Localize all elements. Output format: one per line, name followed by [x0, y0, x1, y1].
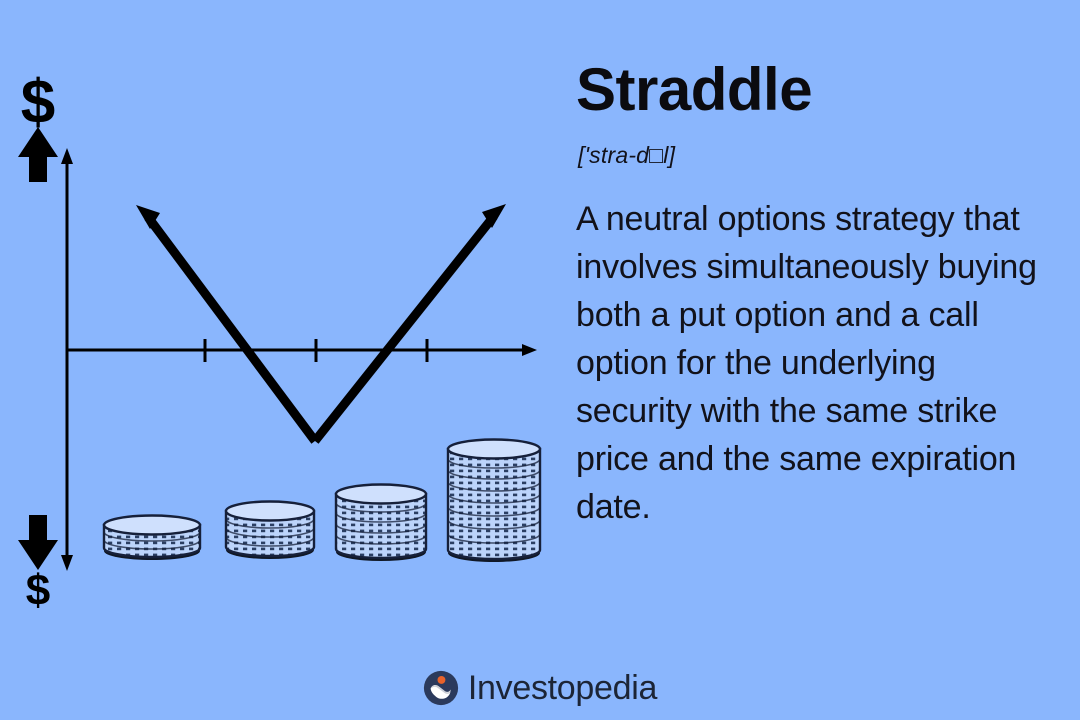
axis-top-dollar-group: $ — [18, 68, 58, 182]
straddle-illustration: $ $ — [0, 0, 560, 660]
coin-stack-1 — [104, 516, 200, 561]
axis-bottom-dollar-group: $ — [18, 515, 58, 615]
y-axis-up-arrowhead — [61, 148, 73, 164]
x-axis — [67, 339, 537, 362]
definition-card: $ $ — [0, 0, 1080, 720]
payoff-chart: $ $ — [0, 0, 560, 660]
investopedia-logo-icon — [423, 670, 459, 706]
axis-top-dollar-label: $ — [21, 68, 55, 137]
definition-body-text: A neutral options strategy that involves… — [576, 195, 1046, 531]
coin-stack-2 — [226, 502, 314, 560]
coin-stack-4 — [448, 440, 540, 563]
brand-footer: Investopedia — [0, 670, 1080, 706]
page-title: Straddle — [576, 60, 1056, 120]
x-axis-arrowhead — [522, 344, 537, 356]
definition-panel: Straddle ['stra-d□l] A neutral options s… — [576, 60, 1056, 531]
coin-stack-3 — [336, 485, 426, 562]
pronunciation-text: ['stra-d□l] — [578, 142, 1056, 169]
y-axis — [61, 148, 73, 571]
down-arrow-icon — [18, 515, 58, 570]
straddle-payoff-line — [136, 204, 506, 441]
brand-name-label: Investopedia — [468, 671, 657, 705]
axis-bottom-dollar-label: $ — [26, 566, 50, 615]
y-axis-down-arrowhead — [61, 555, 73, 571]
